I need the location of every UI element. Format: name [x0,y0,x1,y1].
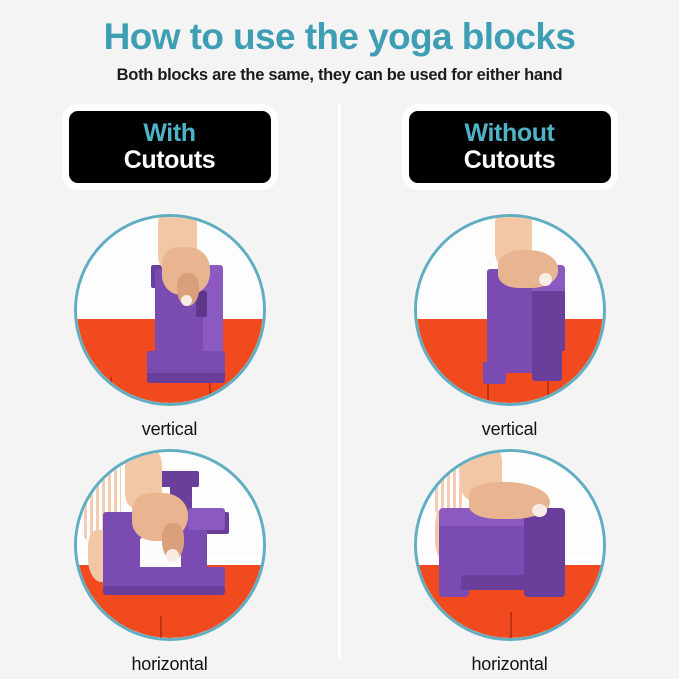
page-title: How to use the yoga blocks [0,16,679,59]
fingernail [181,295,192,306]
photo-with-cutouts-horizontal: horizontal [0,449,339,675]
chip-line-1: With [143,120,195,146]
chip-line-2: Cutouts [464,146,556,175]
photo-with-cutouts-vertical: vertical [0,214,339,440]
column-with-cutouts: With Cutouts [0,104,339,664]
chip-line-2: Cutouts [124,146,216,175]
mat-seam [510,612,512,638]
fingernail [166,549,179,562]
block-base-shadow [147,373,225,382]
photo-caption: vertical [142,419,197,440]
chip-wrap-with-cutouts: With Cutouts [0,104,339,190]
block-foot-right [532,347,562,380]
photo-without-cutouts-horizontal: horizontal [340,449,679,675]
mat-seam [110,377,112,403]
chip-wrap-without-cutouts: Without Cutouts [340,104,679,190]
column-without-cutouts: Without Cutouts [340,104,679,664]
photo-without-cutouts-vertical: vertical [340,214,679,440]
header: How to use the yoga blocks Both blocks a… [0,16,679,85]
page-subtitle: Both blocks are the same, they can be us… [0,66,679,85]
chip-line-1: Without [465,120,555,146]
photo-caption: horizontal [471,654,547,675]
block-side [532,291,565,351]
photo-circle [74,449,266,641]
photo-caption: horizontal [131,654,207,675]
label-chip-with-cutouts: With Cutouts [62,104,278,190]
photo-circle [414,449,606,641]
photo-image [417,452,603,638]
photo-image [77,452,263,638]
block-end-face [524,508,565,597]
label-chip-without-cutouts: Without Cutouts [402,104,618,190]
front-block-tab [188,508,225,530]
photo-image [77,217,263,403]
photo-image [417,217,603,403]
block-foot-left [483,362,505,384]
infographic-page: How to use the yoga blocks Both blocks a… [0,0,679,679]
front-block-shadow [103,586,226,595]
fingernail [539,273,552,286]
photo-circle [74,214,266,406]
photo-caption: vertical [482,419,537,440]
mat-seam [160,616,162,638]
block-underside [461,575,528,590]
photo-circle [414,214,606,406]
fingernail [532,504,547,517]
